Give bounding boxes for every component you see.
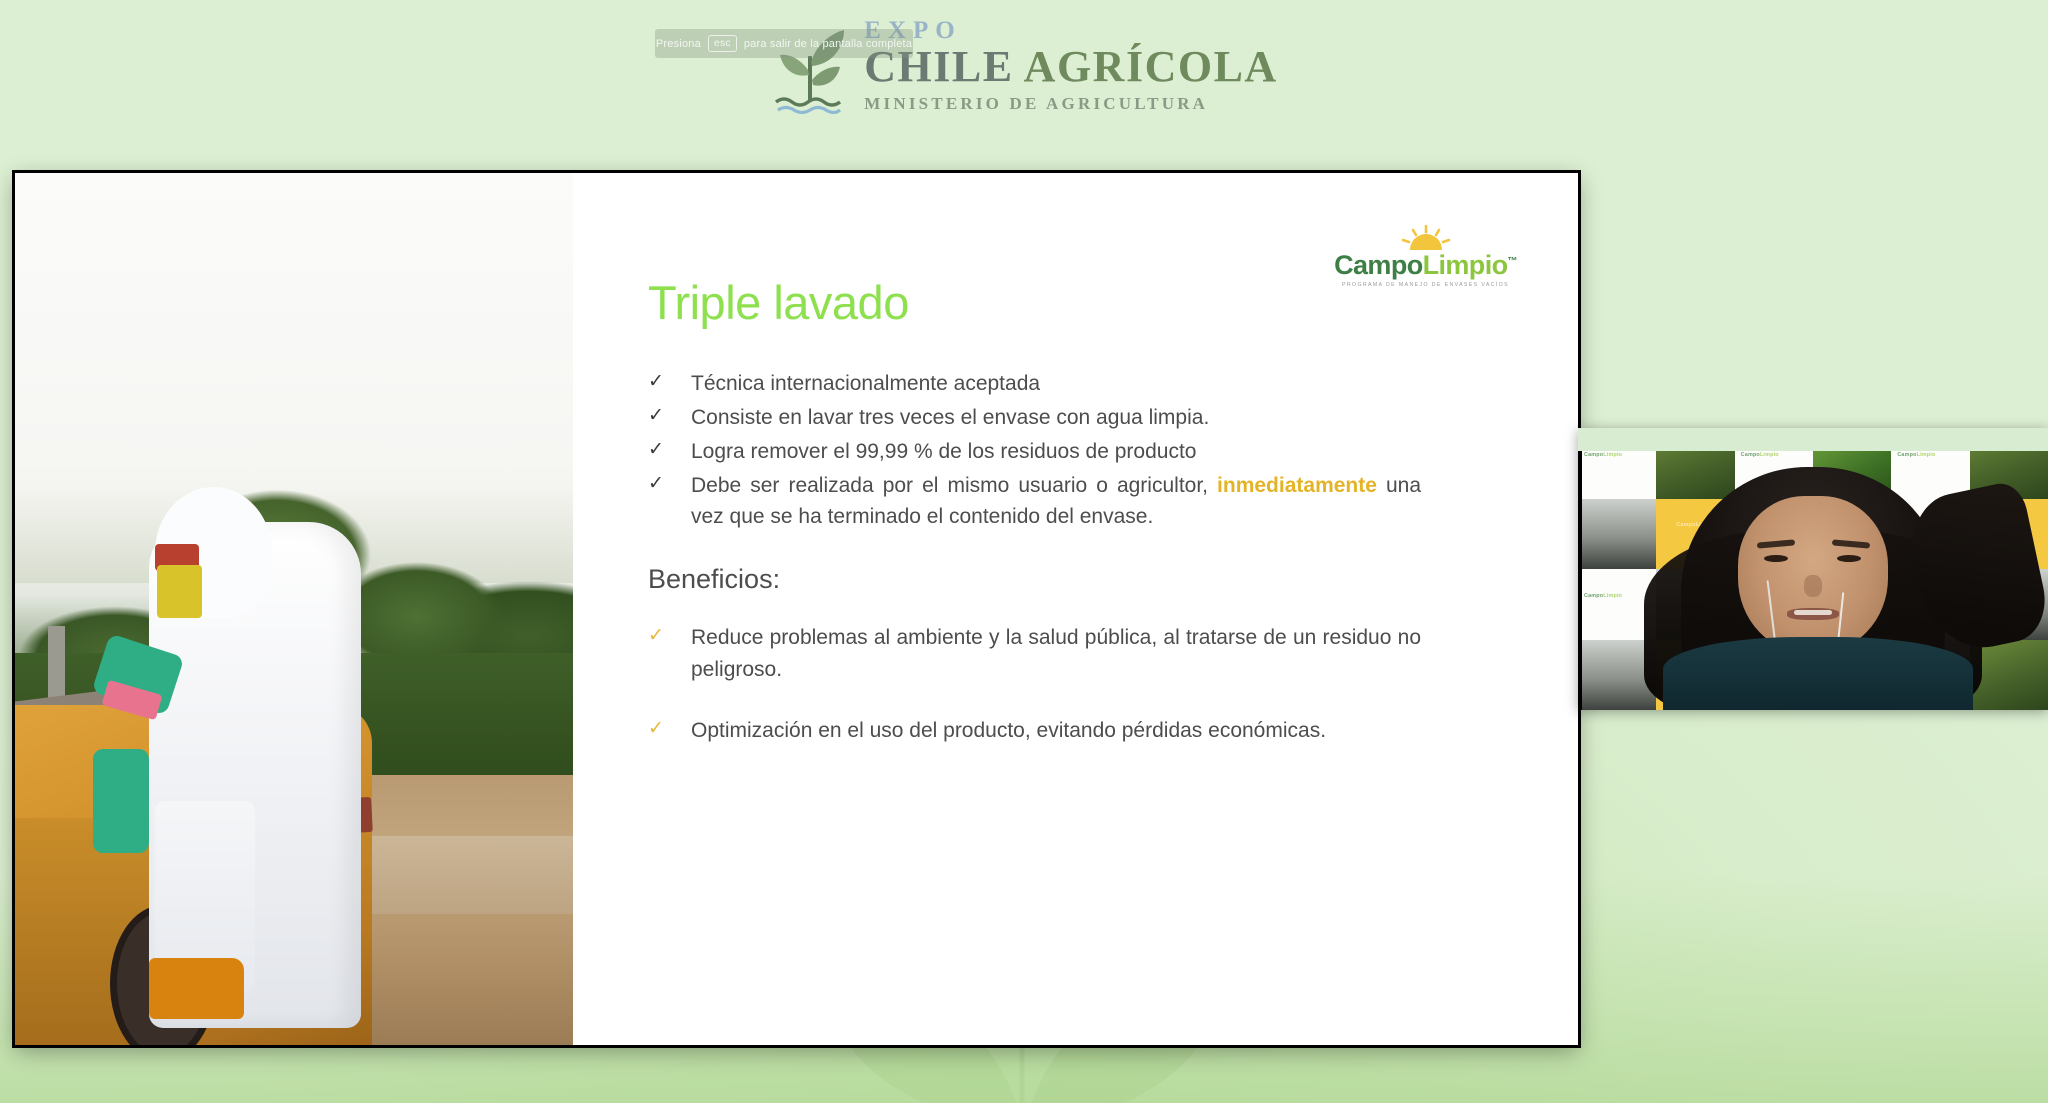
benefits-heading: Beneficios: (648, 564, 1518, 595)
video-top-strip (1578, 428, 2048, 451)
bullet-text: Técnica internacionalmente aceptada (691, 368, 1421, 399)
presenter-figure (1578, 428, 2048, 710)
slide-content: CampoLimpio™ PROGRAMA DE MANEJO DE ENVAS… (573, 173, 1578, 1045)
presenter-teeth (1794, 610, 1832, 615)
check-icon: ✓ (648, 368, 662, 396)
video-left-border (1578, 451, 1582, 710)
bullet-text: Consiste en lavar tres veces el envase c… (691, 402, 1421, 433)
list-item: ✓ Debe ser realizada por el mismo usuari… (648, 470, 1518, 532)
benefits-list: ✓ Reduce problemas al ambiente y la salu… (648, 622, 1518, 747)
list-item: ✓ Logra remover el 99,99 % de los residu… (648, 436, 1518, 467)
campolimpio-word-limpio: Limpio (1423, 250, 1508, 280)
bullet-highlight: inmediatamente (1217, 474, 1377, 497)
fullscreen-exit-toast: Presiona esc para salir de la pantalla c… (655, 29, 913, 58)
trademark-symbol: ™ (1508, 256, 1517, 267)
bullet-text: Debe ser realizada por el mismo usuario … (691, 470, 1421, 532)
photo-worker-respirator (157, 565, 202, 617)
sun-icon (1398, 225, 1454, 251)
slide-photo (15, 173, 573, 1045)
campolimpio-word-campo: Campo (1334, 250, 1423, 280)
photo-worker-glove-lower (93, 749, 149, 854)
presenter-video-tile[interactable]: CampoLimpio CampoLimpio CampoLimpio Camp… (1578, 428, 2048, 710)
check-icon: ✓ (648, 402, 662, 430)
toast-suffix: para salir de la pantalla completa (744, 38, 912, 50)
campolimpio-logo: CampoLimpio™ PROGRAMA DE MANEJO DE ENVAS… (1333, 225, 1518, 288)
list-item: ✓ Consiste en lavar tres veces el envase… (648, 402, 1518, 433)
bullet-list: ✓ Técnica internacionalmente aceptada ✓ … (648, 368, 1518, 532)
check-icon: ✓ (648, 436, 662, 464)
check-icon: ✓ (648, 622, 662, 651)
list-item: ✓ Optimización en el uso del producto, e… (648, 715, 1518, 747)
check-icon: ✓ (648, 715, 662, 744)
bullet-text: Logra remover el 99,99 % de los residuos… (691, 436, 1421, 467)
esc-key-badge: esc (708, 35, 737, 52)
presenter-torso (1663, 637, 1973, 710)
campolimpio-tagline: PROGRAMA DE MANEJO DE ENVASES VACÍOS (1333, 282, 1518, 288)
photo-worker-boot (149, 958, 244, 1019)
benefit-text: Optimización en el uso del producto, evi… (691, 715, 1421, 747)
list-item: ✓ Reduce problemas al ambiente y la salu… (648, 622, 1518, 685)
toast-prefix: Presiona (656, 38, 701, 50)
benefit-text: Reduce problemas al ambiente y la salud … (691, 622, 1421, 685)
check-icon: ✓ (648, 470, 662, 498)
presenter-nose (1804, 575, 1823, 598)
bullet-text-before: Debe ser realizada por el mismo usuario … (691, 474, 1217, 497)
presentation-slide[interactable]: CampoLimpio™ PROGRAMA DE MANEJO DE ENVAS… (15, 173, 1578, 1045)
list-item: ✓ Técnica internacionalmente aceptada (648, 368, 1518, 399)
campolimpio-wordmark: CampoLimpio™ (1333, 252, 1518, 279)
